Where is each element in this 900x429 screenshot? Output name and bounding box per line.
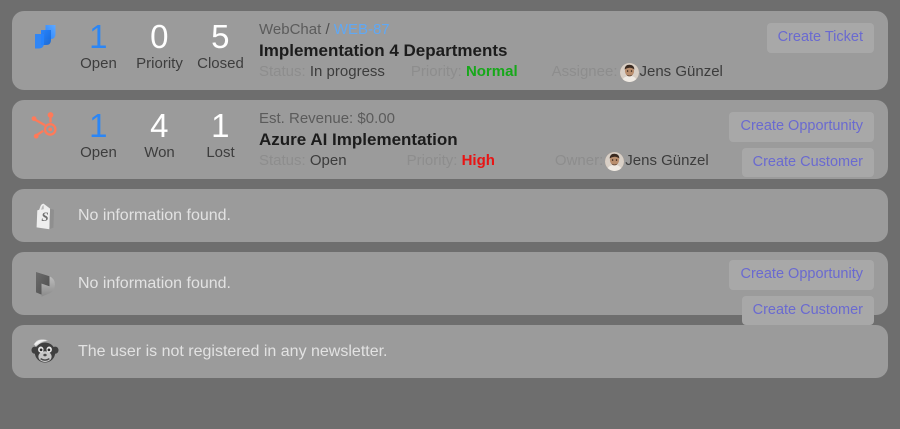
owner-name: Jens Günzel <box>625 151 708 171</box>
hubspot-card: 1 Open 4 Won 1 Lost Est. Revenue: $0.00 … <box>12 100 888 179</box>
counter-lost-label: Lost <box>190 143 251 163</box>
priority-label: Priority: <box>407 151 458 171</box>
svg-text:S: S <box>41 209 48 224</box>
assignee-label: Assignee: <box>552 62 618 82</box>
status-value: In progress <box>310 62 385 82</box>
counter-closed-label: Closed <box>190 54 251 74</box>
counter-won: 4 Won <box>129 109 190 163</box>
counter-open: 1 Open <box>68 20 129 74</box>
counter-closed: 5 Closed <box>190 20 251 74</box>
counter-open-value: 1 <box>68 109 129 143</box>
shopify-empty-message: No information found. <box>66 207 231 225</box>
counter-open-value: 1 <box>68 20 129 54</box>
mailchimp-card: The user is not registered in any newsle… <box>12 325 888 378</box>
jira-icon <box>24 20 66 51</box>
mailchimp-empty-message: The user is not registered in any newsle… <box>66 343 388 361</box>
counter-open-label: Open <box>68 143 129 163</box>
create-opportunity-button[interactable]: Create Opportunity <box>729 112 874 142</box>
counter-closed-value: 5 <box>190 20 251 54</box>
hubspot-card-actions: Create Opportunity Create Customer <box>729 112 874 177</box>
shopify-icon: S <box>24 202 66 230</box>
priority-label: Priority: <box>411 62 462 82</box>
avatar <box>620 63 639 82</box>
assignee-name: Jens Günzel <box>640 62 723 82</box>
jira-card-actions: Create Ticket <box>767 23 874 53</box>
create-customer-button[interactable]: Create Customer <box>742 148 874 178</box>
create-opportunity-button[interactable]: Create Opportunity <box>729 260 874 290</box>
create-ticket-button[interactable]: Create Ticket <box>767 23 874 53</box>
hubspot-counters: 1 Open 4 Won 1 Lost <box>66 109 251 163</box>
dynamics365-card-actions: Create Opportunity Create Customer <box>729 260 874 325</box>
status-label: Status: <box>259 151 306 171</box>
dynamics365-empty-message: No information found. <box>66 275 231 293</box>
breadcrumb-issue-key[interactable]: WEB-87 <box>334 21 390 38</box>
shopify-card: S No information found. <box>12 189 888 242</box>
jira-counters: 1 Open 0 Priority 5 Closed <box>66 20 251 74</box>
status-label: Status: <box>259 62 306 82</box>
revenue-label: Est. Revenue: <box>259 110 353 127</box>
hubspot-icon <box>24 109 66 142</box>
breadcrumb-project: WebChat <box>259 21 321 38</box>
counter-priority-label: Priority <box>129 54 190 74</box>
breadcrumb-separator: / <box>325 21 329 38</box>
priority-value: High <box>462 151 495 171</box>
avatar <box>605 152 624 171</box>
revenue-value: $0.00 <box>357 110 395 127</box>
counter-open: 1 Open <box>68 109 129 163</box>
integration-cards-panel: 1 Open 0 Priority 5 Closed WebChat / WEB… <box>0 0 900 429</box>
counter-lost-value: 1 <box>190 109 251 143</box>
counter-won-label: Won <box>129 143 190 163</box>
dynamics365-card: No information found. Create Opportunity… <box>12 252 888 315</box>
dynamics365-icon <box>24 270 66 298</box>
priority-value: Normal <box>466 62 518 82</box>
status-value: Open <box>310 151 347 171</box>
counter-lost: 1 Lost <box>190 109 251 163</box>
counter-open-label: Open <box>68 54 129 74</box>
create-customer-button[interactable]: Create Customer <box>742 296 874 326</box>
mailchimp-icon <box>24 337 66 367</box>
owner-label: Owner: <box>555 151 603 171</box>
counter-priority-value: 0 <box>129 20 190 54</box>
counter-won-value: 4 <box>129 109 190 143</box>
counter-priority: 0 Priority <box>129 20 190 74</box>
jira-meta-line: Status: In progress Priority: Normal Ass… <box>259 62 878 82</box>
jira-card: 1 Open 0 Priority 5 Closed WebChat / WEB… <box>12 11 888 90</box>
